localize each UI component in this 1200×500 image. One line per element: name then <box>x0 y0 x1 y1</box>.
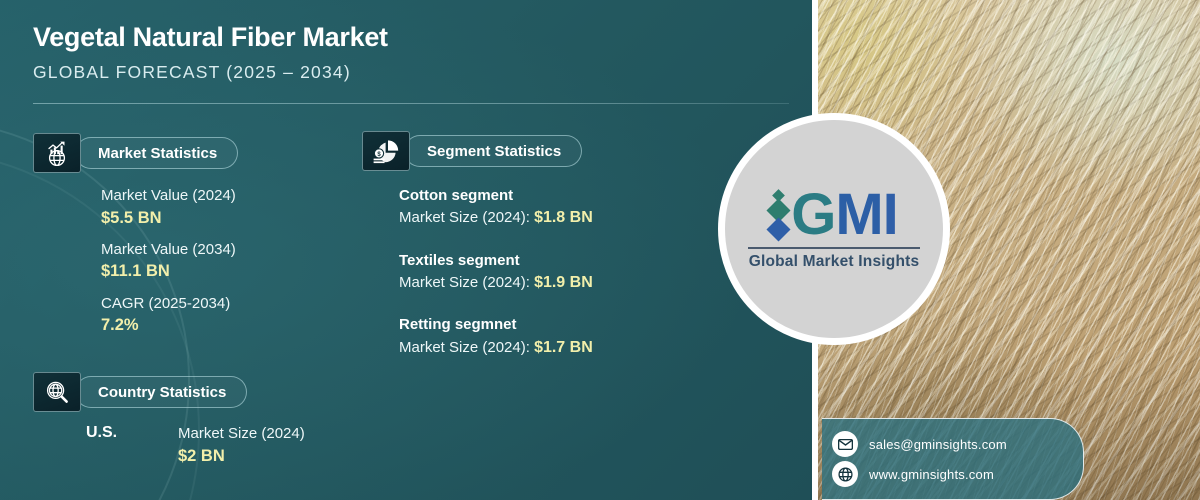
logo-mark: GMI <box>770 187 898 242</box>
logo-letter-i: I <box>883 182 898 247</box>
globe-magnifier-icon <box>33 372 81 412</box>
header: Vegetal Natural Fiber Market GLOBAL FORE… <box>33 22 793 83</box>
country-statistics-title: Country Statistics <box>98 384 226 401</box>
country-metric-label: Market Size (2024) <box>178 424 305 444</box>
market-statistics-list: Market Value (2024) $5.5 BN Market Value… <box>101 186 236 347</box>
stat-value: $5.5 BN <box>101 207 236 229</box>
stat-row: Market Value (2034) $11.1 BN <box>101 240 236 283</box>
header-divider <box>33 103 789 104</box>
segment-item: Textiles segment Market Size (2024): $1.… <box>399 251 593 295</box>
market-statistics-title: Market Statistics <box>98 145 217 162</box>
diamond-icon <box>767 217 791 241</box>
segment-statistics-title: Segment Statistics <box>427 143 561 160</box>
market-statistics-pill: Market Statistics <box>75 137 238 169</box>
infographic-root: Vegetal Natural Fiber Market GLOBAL FORE… <box>0 0 1200 500</box>
logo-letter-m: M <box>835 182 882 247</box>
page-subtitle: GLOBAL FORECAST (2025 – 2034) <box>33 62 793 83</box>
segment-metric-value: $1.8 BN <box>534 209 593 226</box>
segment-statistics-header: $ Segment Statistics <box>362 131 582 171</box>
logo-letter-g: G <box>791 182 835 247</box>
stat-value: 7.2% <box>101 314 236 336</box>
segment-metric-label: Market Size (2024): <box>399 274 530 291</box>
country-name: U.S. <box>86 424 178 442</box>
contact-bar: sales@gminsights.com www.gminsights.com <box>822 418 1084 500</box>
logo-rule <box>748 247 920 249</box>
country-detail: Market Size (2024) $2 BN <box>178 424 305 467</box>
contact-email-row[interactable]: sales@gminsights.com <box>832 431 1073 457</box>
segment-metric: Market Size (2024): $1.8 BN <box>399 207 593 229</box>
globe-icon <box>832 461 858 487</box>
segment-statistics-list: Cotton segment Market Size (2024): $1.8 … <box>399 186 593 380</box>
globe-bar-chart-icon <box>33 133 81 173</box>
logo-diamond-group <box>770 191 787 238</box>
segment-metric-value: $1.9 BN <box>534 274 593 291</box>
stat-value: $11.1 BN <box>101 260 236 282</box>
segment-name: Retting segmnet <box>399 315 593 335</box>
segment-metric: Market Size (2024): $1.9 BN <box>399 272 593 294</box>
country-statistics-pill: Country Statistics <box>75 376 247 408</box>
logo-letters: GMI <box>791 187 898 242</box>
contact-email-text: sales@gminsights.com <box>869 437 1007 452</box>
market-statistics-header: Market Statistics <box>33 133 238 173</box>
stat-label: Market Value (2024) <box>101 186 236 206</box>
segment-item: Cotton segment Market Size (2024): $1.8 … <box>399 186 593 230</box>
segment-item: Retting segmnet Market Size (2024): $1.7… <box>399 315 593 359</box>
segment-name: Cotton segment <box>399 186 593 206</box>
segment-metric-label: Market Size (2024): <box>399 339 530 356</box>
gmi-logo-badge: GMI Global Market Insights <box>718 113 950 345</box>
stat-row: CAGR (2025-2034) 7.2% <box>101 294 236 337</box>
country-metric-value: $2 BN <box>178 445 305 467</box>
segment-metric: Market Size (2024): $1.7 BN <box>399 337 593 359</box>
country-statistics-row: U.S. Market Size (2024) $2 BN <box>86 424 305 467</box>
stat-row: Market Value (2024) $5.5 BN <box>101 186 236 229</box>
page-title: Vegetal Natural Fiber Market <box>33 22 793 53</box>
pie-chart-coin-icon: $ <box>362 131 410 171</box>
segment-statistics-pill: Segment Statistics <box>404 135 582 167</box>
segment-metric-label: Market Size (2024): <box>399 209 530 226</box>
stat-label: Market Value (2034) <box>101 240 236 260</box>
country-statistics-header: Country Statistics <box>33 372 247 412</box>
contact-website-text: www.gminsights.com <box>869 467 994 482</box>
segment-metric-value: $1.7 BN <box>534 339 593 356</box>
segment-name: Textiles segment <box>399 251 593 271</box>
logo-tagline: Global Market Insights <box>749 253 920 271</box>
envelope-icon <box>832 431 858 457</box>
contact-website-row[interactable]: www.gminsights.com <box>832 461 1073 487</box>
stat-label: CAGR (2025-2034) <box>101 294 236 314</box>
